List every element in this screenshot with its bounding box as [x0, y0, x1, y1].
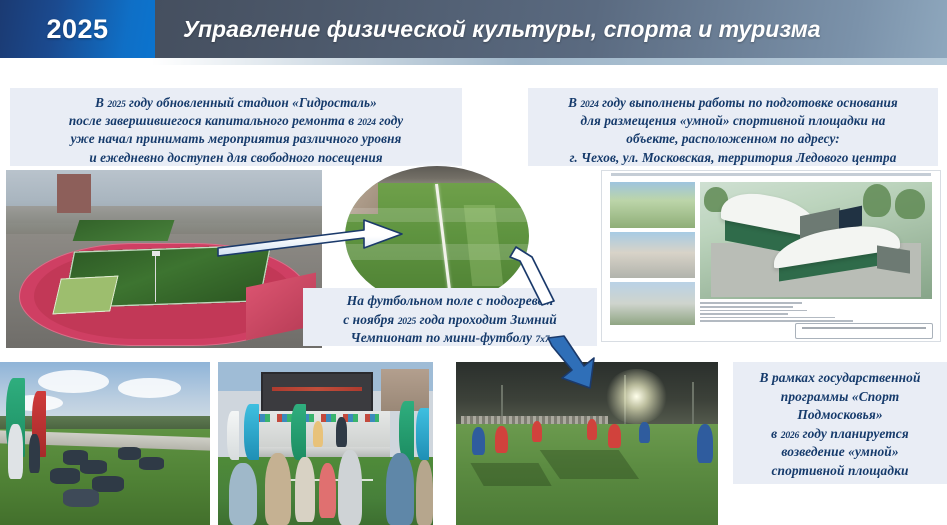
render-entrance-block: [877, 245, 910, 274]
photo-sports-day-festival: [218, 362, 433, 525]
header-year-label: 2025: [46, 14, 108, 45]
festival-spectator: [295, 457, 314, 522]
festival-photographer: [386, 453, 414, 525]
spec-line: [700, 317, 835, 319]
field-l2-year: 2025: [398, 316, 416, 327]
festival-spectator: [338, 450, 362, 525]
festival-banner-cyan: [416, 408, 429, 460]
field-l2b: года проходит Зимний: [416, 312, 557, 327]
ground-line-1: В 2024 году выполнены работы по подготов…: [532, 94, 934, 112]
stadium-line-4: и ежедневно доступен для свободного посе…: [14, 149, 458, 167]
festival-banner-green-1: [291, 404, 306, 459]
board-main-render: [700, 182, 933, 299]
slide-root: 2025 Управление физической культуры, спо…: [0, 0, 947, 525]
night-player-red: [532, 421, 542, 442]
ground-l1a: В: [568, 95, 580, 110]
board-thumb-2: [610, 232, 695, 278]
field-l3a: Чемпионат по мини-футболу: [351, 330, 536, 345]
night-player-red: [495, 426, 508, 454]
render-tree-2: [895, 189, 925, 219]
ground-l1b: году выполнены работы по подготовке осно…: [599, 95, 898, 110]
festival-spectator: [319, 463, 336, 518]
pushups-person: [92, 476, 124, 492]
spec-line: [700, 313, 788, 315]
text-card-stadium: В 2025 году обновленный стадион «Гидрост…: [10, 88, 462, 166]
spec-line: [700, 320, 854, 322]
stadium-line-3: уже начал принимать мероприятия различно…: [14, 130, 458, 148]
aerial-secondary-pitch: [72, 220, 174, 241]
program-line-4: в 2026 году планируется: [739, 425, 941, 444]
spec-line: [700, 306, 793, 308]
pushups-person: [139, 457, 164, 470]
aerial-basketball-court: [52, 275, 118, 314]
stadium-line-2: после завершившегося капитального ремонт…: [14, 112, 458, 130]
pushups-standing-person: [8, 424, 23, 479]
board-thumb-1: [610, 182, 695, 228]
photo-project-board: [601, 170, 941, 342]
slide-header: 2025 Управление физической культуры, спо…: [0, 0, 947, 58]
festival-banner-white: [227, 411, 240, 460]
festival-banner-green-2: [399, 401, 414, 460]
aerial-floodlight-mast: [155, 255, 157, 301]
program-line-6: спортивной площадки: [739, 462, 941, 481]
night-shadow: [470, 463, 551, 486]
ground-line-3: объекте, расположенном по адресу:: [532, 130, 934, 148]
festival-spectator: [416, 460, 433, 525]
text-card-state-program: В рамках государственной программы «Спор…: [733, 362, 947, 484]
header-title-block: Управление физической культуры, спорта и…: [155, 0, 947, 58]
night-player-blue: [472, 427, 485, 455]
program-l4-year: 2026: [781, 430, 799, 441]
spec-line: [700, 302, 802, 304]
stadium-l1-year: 2025: [107, 100, 125, 110]
festival-led-screen: [261, 372, 373, 413]
photo-pushups-event: [0, 362, 210, 525]
ground-line-2: для размещения «умной» спортивной площад…: [532, 112, 934, 130]
program-l4b: году планируется: [799, 426, 909, 441]
stadium-l2b: году: [376, 113, 403, 128]
pushups-cloud-1: [38, 370, 109, 393]
stadium-l2a: после завершившегося капитального ремонт…: [69, 113, 358, 128]
festival-performer: [313, 421, 324, 447]
night-player-red: [608, 424, 621, 448]
festival-spectator: [229, 463, 257, 525]
pushups-person: [118, 447, 141, 460]
night-floodlight-glow: [605, 369, 668, 424]
night-player-blue: [639, 422, 649, 443]
header-underline: [0, 58, 947, 65]
stadium-l2-year: 2024: [358, 118, 376, 128]
night-player-red: [587, 419, 597, 440]
pushups-person: [29, 434, 40, 473]
festival-banner-blue: [244, 404, 259, 459]
board-caption-box: [795, 323, 933, 339]
program-line-3: Подмосковья»: [739, 406, 941, 425]
festival-led-text: [272, 387, 361, 391]
festival-performer: [336, 417, 347, 446]
arrow-text-to-turf: [510, 243, 580, 305]
spec-line: [700, 310, 807, 312]
field-l2a: с ноября: [343, 312, 398, 327]
pushups-person: [50, 468, 79, 484]
board-thumb-3: [610, 282, 695, 325]
render-tree-1: [863, 184, 891, 217]
aerial-building: [57, 174, 92, 213]
program-l4a: в: [771, 426, 781, 441]
ground-l1-year: 2024: [580, 100, 598, 110]
arrow-stadium-to-turf: [216, 212, 406, 272]
field-line-2: с ноября 2025 года проходит Зимний: [307, 311, 593, 330]
pushups-person: [80, 460, 107, 475]
stadium-l1b: году обновленный стадион «Гидросталь»: [126, 95, 377, 110]
program-line-1: В рамках государственной: [739, 369, 941, 388]
stadium-line-1: В 2025 году обновленный стадион «Гидрост…: [14, 94, 458, 112]
ground-line-4: г. Чехов, ул. Московская, территория Лед…: [532, 149, 934, 167]
pushups-person: [63, 489, 99, 507]
pushups-cloud-2: [118, 378, 181, 398]
header-year-block: 2025: [0, 0, 155, 58]
text-card-ground-preparation: В 2024 году выполнены работы по подготов…: [528, 88, 938, 166]
board-header-rule: [611, 173, 931, 176]
board-technical-specs: [700, 302, 933, 324]
stadium-l1a: В: [95, 95, 107, 110]
page-title: Управление физической культуры, спорта и…: [183, 16, 821, 43]
arrow-text-to-night: [546, 336, 606, 392]
program-line-2: программы «Спорт: [739, 388, 941, 407]
festival-spectator: [265, 453, 291, 525]
program-line-5: возведение «умной»: [739, 443, 941, 462]
night-player-blue-near: [697, 424, 713, 463]
